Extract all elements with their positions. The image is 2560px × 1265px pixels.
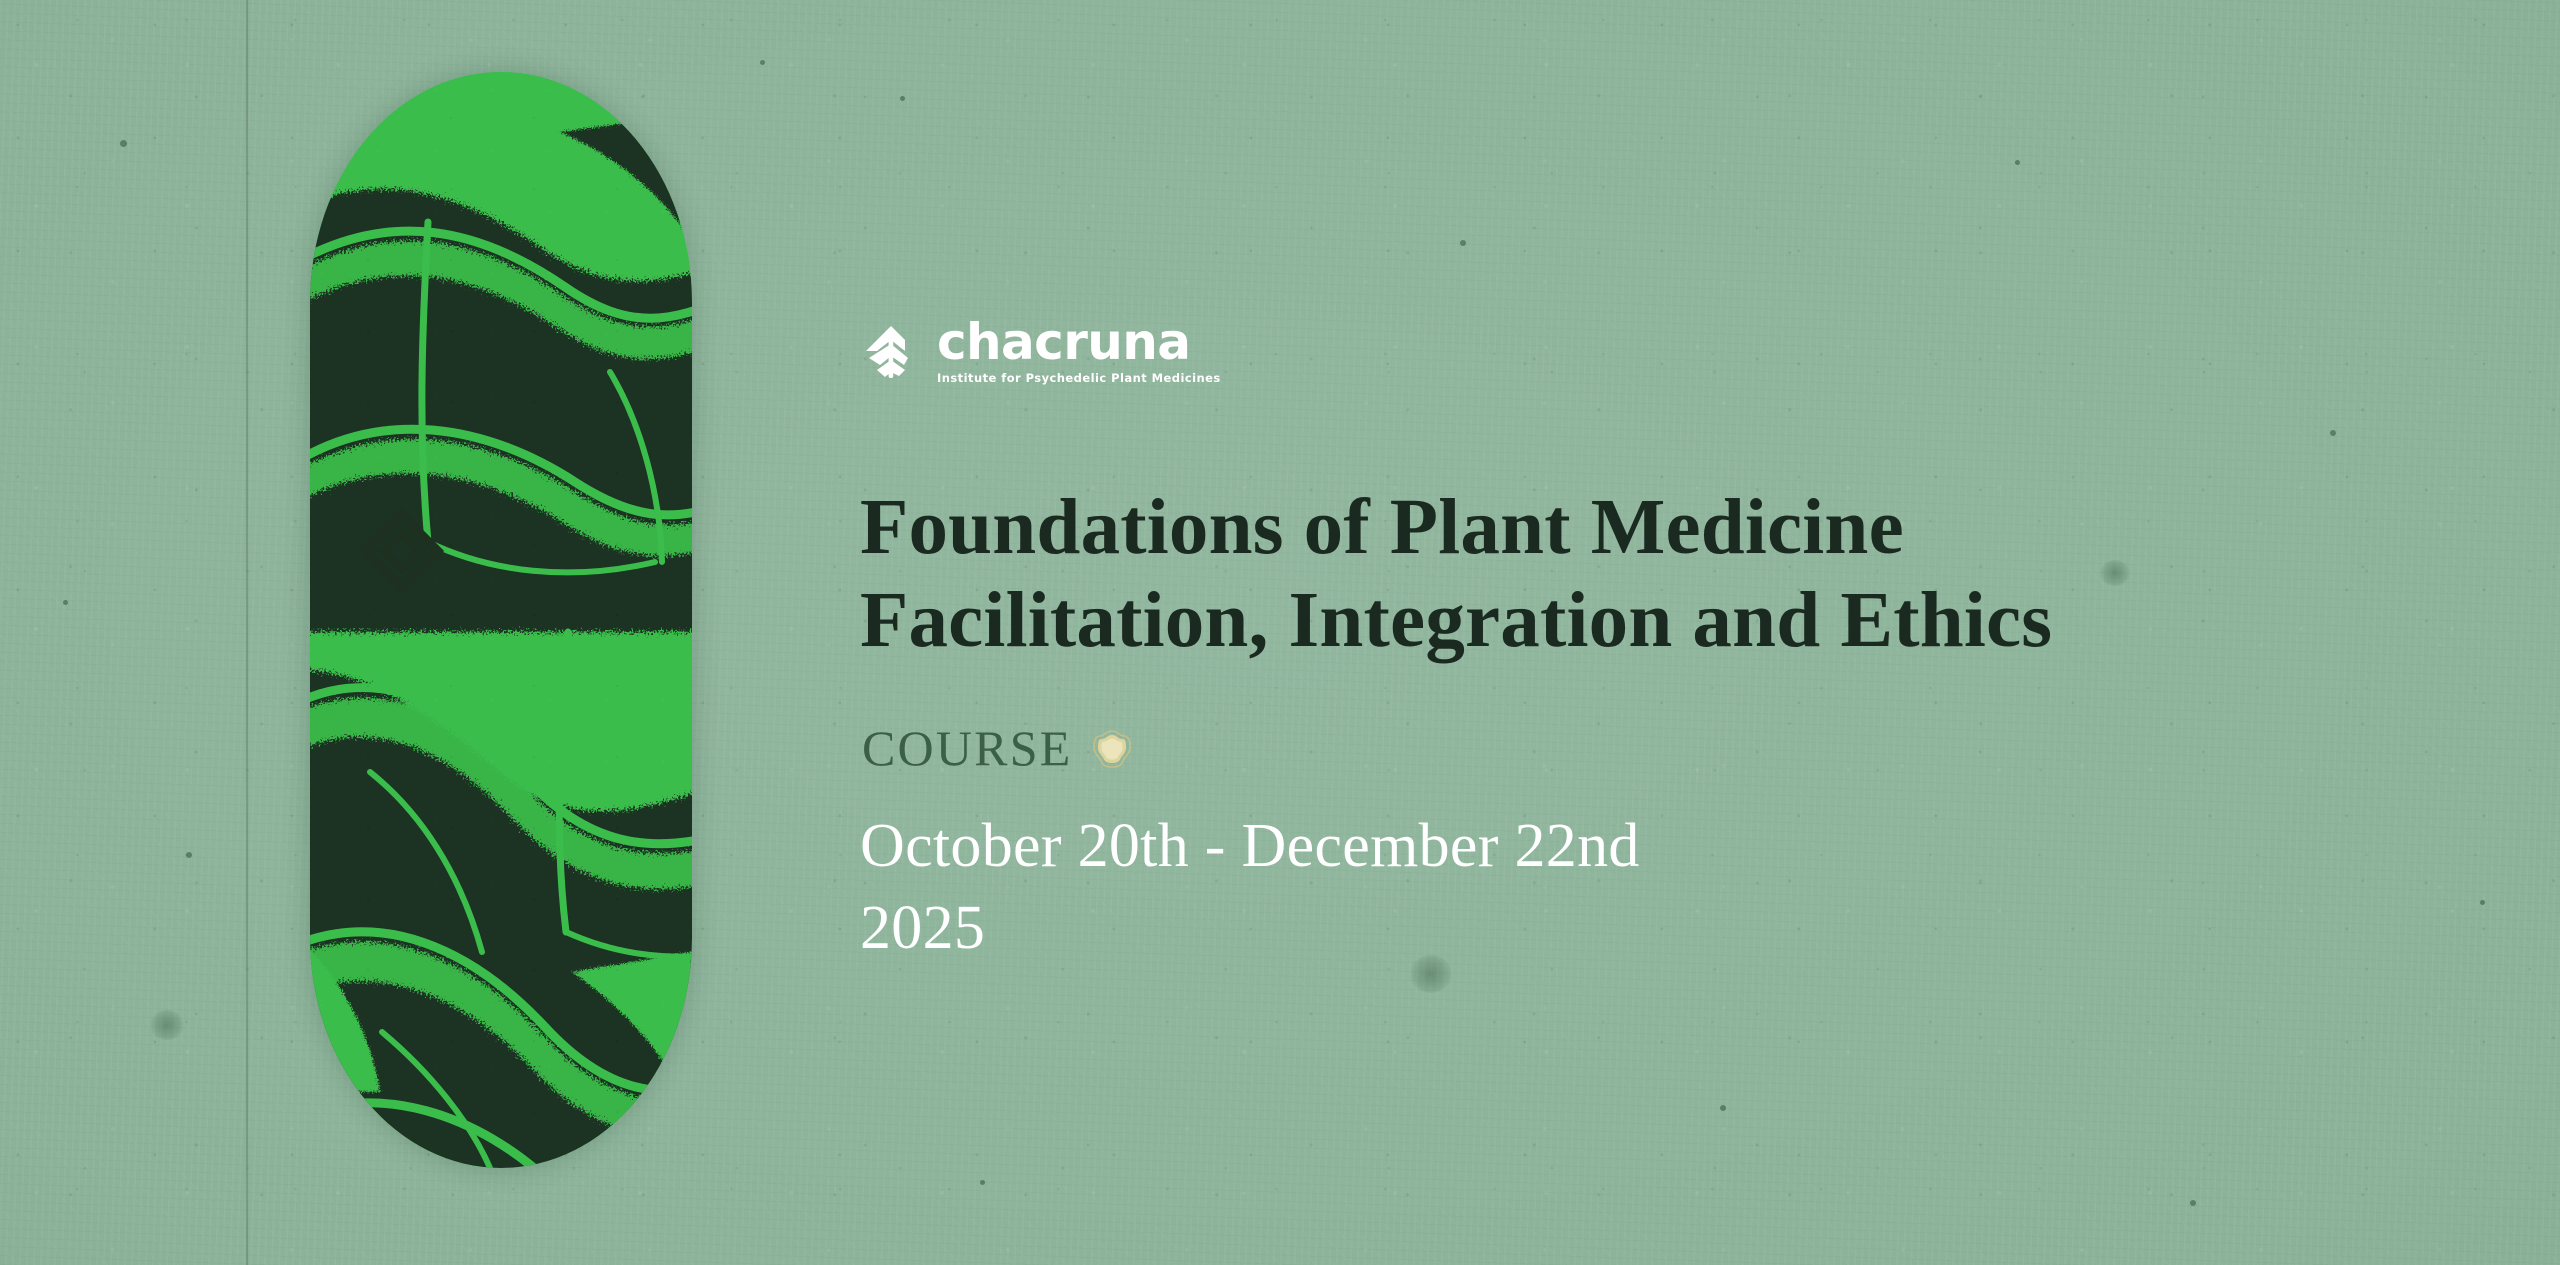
paper-blot <box>150 1010 184 1040</box>
paper-speck <box>2480 900 2485 905</box>
logo-name: chacruna <box>937 318 1221 366</box>
course-label: COURSE <box>862 723 1072 773</box>
leaf-icon <box>860 320 922 382</box>
paper-speck <box>186 852 192 858</box>
arched-leaf-panel <box>310 72 692 1168</box>
event-banner: chacruna Institute for Psychedelic Plant… <box>0 0 2560 1265</box>
paper-speck <box>120 140 127 147</box>
event-dates: October 20th - December 22nd 2025 <box>860 805 1640 970</box>
event-dates-line-2: 2025 <box>860 887 1640 969</box>
rosette-badge-icon <box>1090 727 1134 771</box>
paper-speck <box>63 600 68 605</box>
event-dates-line-1: October 20th - December 22nd <box>860 805 1640 887</box>
page-title: Foundations of Plant Medicine Facilitati… <box>860 481 2052 667</box>
page-title-line-2: Facilitation, Integration and Ethics <box>860 574 2052 667</box>
chacruna-logo[interactable]: chacruna Institute for Psychedelic Plant… <box>860 318 1221 385</box>
page-title-line-1: Foundations of Plant Medicine <box>860 481 2052 574</box>
paper-fold-line <box>245 0 249 1265</box>
content-column: chacruna Institute for Psychedelic Plant… <box>860 0 2460 1265</box>
logo-tagline: Institute for Psychedelic Plant Medicine… <box>937 371 1221 385</box>
logo-wordmark: chacruna Institute for Psychedelic Plant… <box>937 318 1221 385</box>
course-kicker: COURSE <box>862 723 1134 773</box>
paper-speck <box>760 60 765 65</box>
